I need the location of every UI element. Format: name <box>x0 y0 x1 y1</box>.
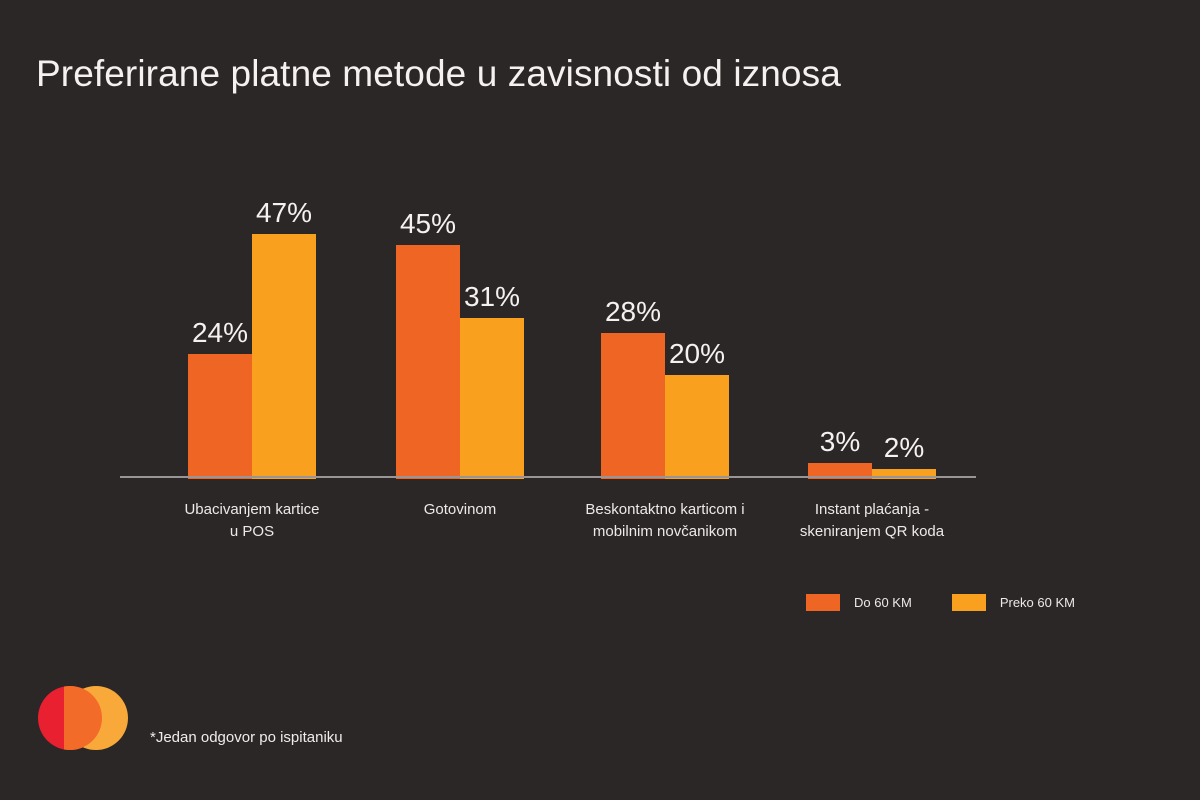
footnote: *Jedan odgovor po ispitaniku <box>150 729 343 746</box>
bar[interactable]: 20% <box>665 375 729 479</box>
page-title: Preferirane platne metode u zavisnosti o… <box>36 52 841 96</box>
mastercard-overlap <box>64 686 102 750</box>
mastercard-logo <box>38 686 128 750</box>
bar-group: 3%2% <box>808 130 936 479</box>
bar[interactable]: 24% <box>188 354 252 479</box>
category-label: Ubacivanjem kartice u POS <box>142 499 362 543</box>
bar-group: 45%31% <box>396 130 524 479</box>
bar[interactable]: 45% <box>396 245 460 479</box>
plot-area: 24%47%45%31%28%20%3%2% <box>120 130 976 479</box>
bar[interactable]: 47% <box>252 234 316 479</box>
x-axis-line <box>120 476 976 478</box>
chart-legend: Do 60 KMPreko 60 KM <box>806 594 1075 611</box>
legend-swatch-1 <box>952 594 986 611</box>
bar[interactable]: 28% <box>601 333 665 479</box>
bar-value-label: 45% <box>400 209 456 239</box>
legend-item[interactable]: Do 60 KM <box>806 594 912 611</box>
bar-group: 28%20% <box>601 130 729 479</box>
category-label: Instant plaćanja - skeniranjem QR koda <box>762 499 982 543</box>
legend-label: Do 60 KM <box>854 595 912 610</box>
chart-canvas: Preferirane platne metode u zavisnosti o… <box>0 0 1200 800</box>
bar-value-label: 24% <box>192 318 248 348</box>
bar-value-label: 20% <box>669 339 725 369</box>
bar-value-label: 31% <box>464 282 520 312</box>
category-label: Gotovinom <box>350 499 570 521</box>
legend-item[interactable]: Preko 60 KM <box>952 594 1075 611</box>
legend-label: Preko 60 KM <box>1000 595 1075 610</box>
bar[interactable]: 31% <box>460 318 524 479</box>
bar-value-label: 2% <box>884 433 924 463</box>
category-label: Beskontaktno karticom i mobilnim novčani… <box>555 499 775 543</box>
legend-swatch-0 <box>806 594 840 611</box>
bar-value-label: 47% <box>256 198 312 228</box>
bar-value-label: 28% <box>605 297 661 327</box>
bar-value-label: 3% <box>820 427 860 457</box>
bar-group: 24%47% <box>188 130 316 479</box>
